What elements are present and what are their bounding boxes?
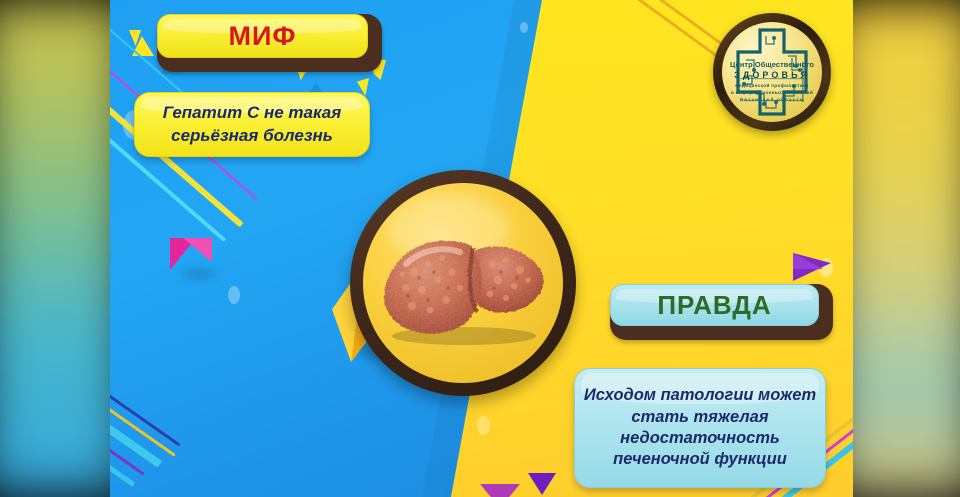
- infographic-slide: МИФ Гепатит С не такая серьёзная болезнь: [110, 0, 853, 497]
- liver-medallion-disc: [363, 183, 563, 383]
- myth-heading-plate: МИФ: [157, 14, 382, 72]
- truth-text: Исходом патологии может стать тяжелая не…: [575, 385, 825, 471]
- purple-triangle-down-icon: [528, 473, 556, 495]
- myth-heading-label: МИФ: [229, 21, 297, 52]
- logo-line-2: ЗДОРОВЬЯ: [722, 70, 822, 80]
- bokeh-dot: [228, 286, 240, 304]
- liver-medallion: [350, 170, 576, 396]
- myth-heading-plate-face: МИФ: [157, 14, 368, 58]
- pink-cone-icon: [170, 238, 216, 272]
- bokeh-dot: [477, 416, 490, 435]
- organization-logo-disc: Центр Общественного ЗДОРОВЬЯ медицинской…: [722, 22, 822, 122]
- truth-heading-plate: ПРАВДА: [610, 284, 833, 340]
- purple-triangle-right-icon: [793, 253, 823, 269]
- truth-text-bubble: Исходом патологии может стать тяжелая не…: [574, 368, 826, 488]
- slide-canvas: МИФ Гепатит С не такая серьёзная болезнь: [0, 0, 960, 497]
- bokeh-dot: [520, 22, 528, 33]
- myth-text-bubble: Гепатит С не такая серьёзная болезнь: [134, 92, 370, 157]
- myth-text: Гепатит С не такая серьёзная болезнь: [135, 102, 369, 146]
- organization-logo: Центр Общественного ЗДОРОВЬЯ медицинской…: [713, 13, 831, 131]
- purple-triangle-down-icon: [480, 484, 520, 497]
- logo-line-1: Центр Общественного: [722, 60, 822, 69]
- logo-line-4: и информационных технологий: [722, 90, 822, 95]
- logo-line-5: Рязанской области: [722, 97, 822, 102]
- truth-heading-plate-face: ПРАВДА: [610, 284, 819, 326]
- logo-line-3: медицинской профилактики: [722, 83, 822, 88]
- cirrhotic-liver-illustration: [372, 228, 554, 346]
- truth-heading-label: ПРАВДА: [657, 290, 771, 321]
